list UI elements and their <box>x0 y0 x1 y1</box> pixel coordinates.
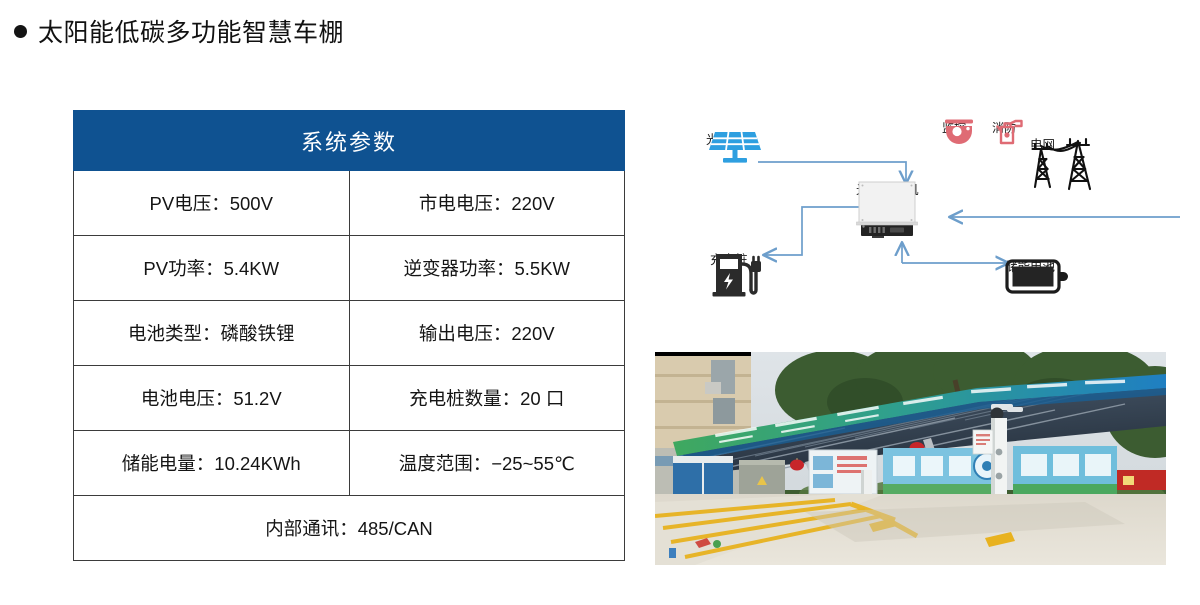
table-row: PV功率：5.4KW 逆变器功率：5.5KW <box>74 236 625 301</box>
cell-pv-power: PV功率：5.4KW <box>74 236 350 301</box>
solar-panel-icon <box>706 130 764 166</box>
cell-internal-comm: 内部通讯：485/CAN <box>74 496 625 561</box>
table-footer-row: 内部通讯：485/CAN <box>74 496 625 561</box>
photo-info-boards <box>809 446 1117 500</box>
node-storage-battery: 储能电池 <box>1005 257 1055 275</box>
system-parameters-table: 系统参数 PV电压：500V 市电电压：220V PV功率：5.4KW 逆变器功… <box>73 110 625 561</box>
node-pv-array: 光伏阵列 <box>706 130 756 148</box>
cell-inverter-power: 逆变器功率：5.5KW <box>349 236 625 301</box>
table-row: 电池类型：磷酸铁锂 输出电压：220V <box>74 301 625 366</box>
photo-cabinets <box>673 456 785 500</box>
cell-pv-voltage: PV电压：500V <box>74 171 350 236</box>
cell-temp-range: 温度范围：−25~55℃ <box>349 431 625 496</box>
battery-icon <box>1005 257 1069 297</box>
node-fire-protection: 消防 <box>992 118 1016 135</box>
node-ev-charger: 充电桩 <box>710 250 748 268</box>
node-monitoring: 监控 <box>942 118 966 135</box>
node-power-grid: 电网 <box>1030 135 1055 153</box>
table-header-row: 系统参数 <box>74 111 625 171</box>
fire-extinguisher-icon <box>992 118 1024 146</box>
cell-battery-voltage: 电池电压：51.2V <box>74 366 350 431</box>
cell-charger-count: 充电桩数量：20 口 <box>349 366 625 431</box>
page-title-text: 太阳能低碳多功能智慧车棚 <box>38 13 344 49</box>
table-header-cell: 系统参数 <box>74 111 625 171</box>
node-hybrid-inverter: 光储一体机 <box>856 180 919 198</box>
cell-battery-type: 电池类型：磷酸铁锂 <box>74 301 350 366</box>
cell-grid-voltage: 市电电压：220V <box>349 171 625 236</box>
bullet-dot-icon <box>14 25 27 38</box>
cctv-camera-icon <box>942 118 976 146</box>
solar-carport-photo <box>655 352 1166 565</box>
table-row: PV电压：500V 市电电压：220V <box>74 171 625 236</box>
table-row: 电池电压：51.2V 充电桩数量：20 口 <box>74 366 625 431</box>
system-flow-diagram: 光伏阵列 监控 消防 <box>650 105 1180 340</box>
cell-storage-energy: 储能电量：10.24KWh <box>74 431 350 496</box>
ev-charger-icon <box>710 250 764 298</box>
cell-output-voltage: 输出电压：220V <box>349 301 625 366</box>
hybrid-inverter-icon <box>856 180 918 240</box>
carport-photo-content <box>655 352 1166 565</box>
flow-inverter-to-charger <box>764 207 860 255</box>
page-title: 太阳能低碳多功能智慧车棚 <box>14 13 344 49</box>
table-row: 储能电量：10.24KWh 温度范围：−25~55℃ <box>74 431 625 496</box>
power-pylon-icon <box>1030 135 1102 197</box>
